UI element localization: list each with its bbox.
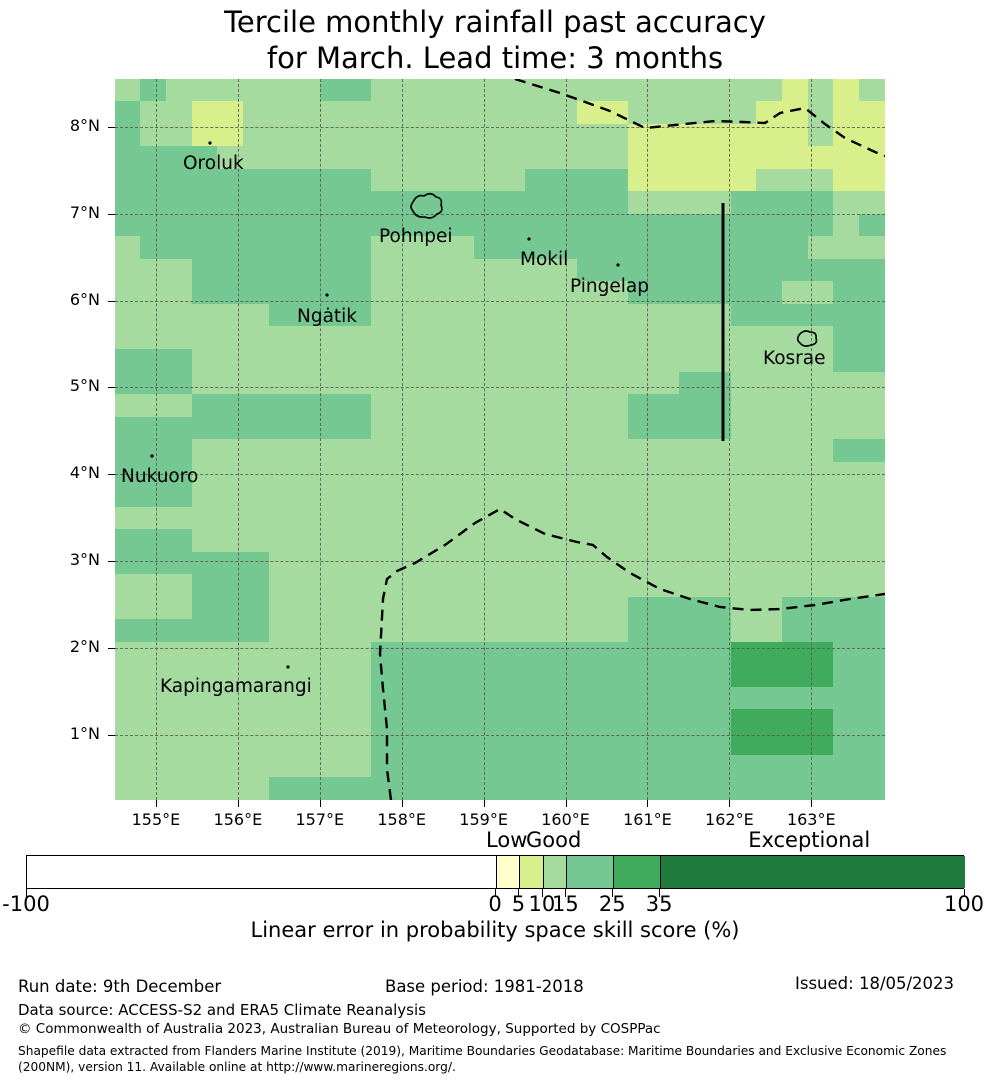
x-tick-mark — [238, 800, 239, 807]
issued-date: Issued: 18/05/2023 — [795, 974, 954, 993]
colorbar-separator — [660, 856, 661, 888]
x-tick-label: 159°E — [439, 810, 529, 829]
y-tick-mark — [108, 127, 115, 128]
y-tick-label: 4°N — [40, 463, 100, 482]
y-tick-label: 2°N — [40, 637, 100, 656]
colorbar-tick-mark — [26, 889, 27, 897]
title-line-1: Tercile monthly rainfall past accuracy — [0, 4, 990, 40]
y-tick-label: 6°N — [40, 290, 100, 309]
colorbar-segment — [519, 856, 543, 888]
page-title: Tercile monthly rainfall past accuracy f… — [0, 4, 990, 76]
shapefile-note: Shapefile data extracted from Flanders M… — [18, 1043, 978, 1075]
x-tick-mark — [156, 800, 157, 807]
island-dot-nukuoro — [150, 454, 153, 457]
colorbar-separator — [613, 856, 614, 888]
x-tick-label: 162°E — [684, 810, 774, 829]
x-tick-label: 163°E — [766, 810, 856, 829]
colorbar-segment — [27, 856, 497, 888]
colorbar-category: Exceptional — [709, 828, 909, 852]
colorbar-tick-mark — [964, 889, 965, 897]
colorbar-segment — [566, 856, 613, 888]
colorbar-tick-label: -100 — [0, 892, 86, 916]
data-source: Data source: ACCESS-S2 and ERA5 Climate … — [18, 1001, 426, 1019]
skill-score-map[interactable]: OrolukPohnpeiMokilPingelapNgȧtikKosraeNu… — [115, 79, 885, 800]
y-tick-label: 1°N — [40, 724, 100, 743]
colorbar[interactable] — [26, 855, 964, 889]
y-tick-label: 5°N — [40, 376, 100, 395]
y-tick-label: 3°N — [40, 550, 100, 569]
island-outline-pohnpei — [411, 194, 442, 218]
colorbar-separator — [566, 856, 567, 888]
colorbar-category: Good — [454, 828, 654, 852]
colorbar-segment — [613, 856, 660, 888]
colorbar-separator — [543, 856, 544, 888]
y-tick-mark — [108, 735, 115, 736]
colorbar-separator — [496, 856, 497, 888]
place-label-kapingamarangi: Kapingamarangi — [160, 676, 312, 697]
island-dot-pingelap — [616, 263, 619, 266]
x-tick-mark — [566, 800, 567, 807]
y-tick-mark — [108, 648, 115, 649]
x-tick-mark — [811, 800, 812, 807]
place-label-nukuoro: Nukuoro — [121, 466, 198, 487]
x-tick-label: 156°E — [193, 810, 283, 829]
island-dot-ngatik — [325, 293, 328, 296]
y-tick-mark — [108, 214, 115, 215]
x-tick-mark — [402, 800, 403, 807]
colorbar-title: Linear error in probability space skill … — [0, 918, 990, 942]
y-tick-mark — [108, 301, 115, 302]
eez-boundary-north — [515, 79, 885, 156]
island-outline-kosrae — [798, 331, 817, 346]
place-label-oroluk: Oroluk — [183, 153, 244, 174]
place-label-kosrae: Kosrae — [763, 348, 826, 369]
y-tick-label: 8°N — [40, 116, 100, 135]
place-label-pingelap: Pingelap — [570, 276, 649, 297]
island-dot-oroluk — [208, 141, 211, 144]
colorbar-segment — [543, 856, 567, 888]
run-date: Run date: 9th December — [18, 977, 221, 996]
colorbar-separator — [519, 856, 520, 888]
y-tick-mark — [108, 474, 115, 475]
place-label-ngtik: Ngȧtik — [297, 306, 357, 327]
x-tick-mark — [320, 800, 321, 807]
colorbar-segment — [496, 856, 520, 888]
colorbar-tick-mark — [659, 889, 660, 897]
island-dot-mokil — [527, 237, 530, 240]
base-period: Base period: 1981-2018 — [385, 977, 584, 996]
y-tick-label: 7°N — [40, 203, 100, 222]
x-tick-label: 161°E — [602, 810, 692, 829]
place-label-pohnpei: Pohnpei — [379, 226, 453, 247]
x-tick-mark — [484, 800, 485, 807]
y-tick-mark — [108, 561, 115, 562]
title-line-2: for March. Lead time: 3 months — [0, 40, 990, 76]
x-tick-label: 158°E — [357, 810, 447, 829]
y-tick-mark — [108, 387, 115, 388]
island-dot-kapingamarangi — [286, 665, 289, 668]
colorbar-segment — [660, 856, 965, 888]
x-tick-mark — [729, 800, 730, 807]
x-tick-label: 157°E — [275, 810, 365, 829]
copyright: © Commonwealth of Australia 2023, Austra… — [18, 1021, 661, 1037]
x-tick-label: 160°E — [521, 810, 611, 829]
colorbar-tick-label: 100 — [904, 892, 990, 916]
eez-boundary-south — [380, 509, 885, 800]
x-tick-label: 155°E — [111, 810, 201, 829]
x-tick-mark — [647, 800, 648, 807]
place-label-mokil: Mokil — [520, 249, 568, 270]
